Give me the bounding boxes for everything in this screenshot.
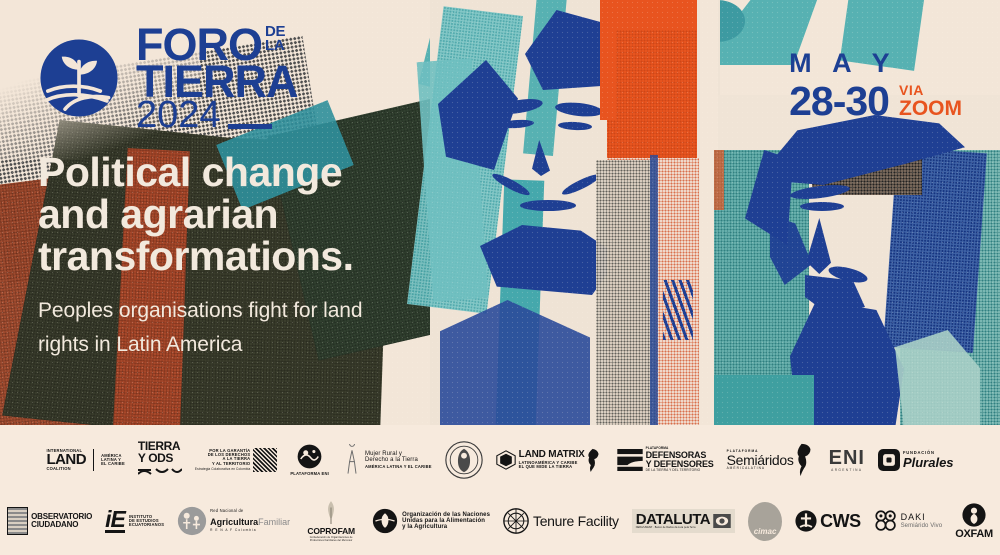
cws-cross-circle-icon [795,510,817,532]
art-right-eye [800,202,844,211]
event-platform-name: ZOOM [899,98,962,119]
foro-de-la-tierra-logo[interactable]: FORO DE LA TIERRA 2024 [38,22,298,134]
logo-dela-text: DE LA [265,25,285,54]
logo-fundacion-plurales[interactable]: FUNDACIÓN Plurales [878,449,954,471]
subtitle-line-2: rights in Latin America [38,328,468,362]
plat-col-hatch-icon [253,448,277,472]
art-right-teal-foot [714,375,814,425]
iee-line-3: ECUATORIANOS [129,523,164,527]
headline-line-1: Political change [38,152,468,194]
mujer-rural-figure-icon [342,444,362,476]
logo-la-text: LA [265,37,284,54]
art-blue-mouth [520,200,576,211]
art-orange-vertical-strip [600,0,616,120]
logo-seal-emblem[interactable] [445,441,483,479]
fao-emblem-icon [372,508,398,534]
event-days: 28-30 [789,81,889,122]
logo-instituto-estudios-ecuatorianos[interactable]: iE INSTITUTO DE ESTUDIOS ECUATORIANOS [105,509,164,534]
ilc-divider [93,449,94,472]
partner-logo-row-1: INTERNATIONAL LAND COALITION AMÉRICA LAT… [0,425,1000,491]
event-date-block: M A Y 28-30 VIA ZOOM [789,48,962,122]
logo-wordmark: FORO DE LA TIERRA 2024 [136,22,298,134]
eni-sub: ARGENTINA [831,468,862,472]
land-matrix-latam-shape-icon [588,448,604,472]
cimac-circle-icon: cimac [748,502,782,541]
event-via-label: VIA [899,83,962,97]
logo-semiaridos[interactable]: PLATAFORMA Semiáridos A M É R I C A L A … [727,443,816,477]
subtitle-line-1: Peoples organisations fight for land [38,294,468,328]
logo-eni-argentina[interactable]: ENI ARGENTINA [829,448,865,472]
ilc-main-text: LAND [46,453,86,467]
ilc-side-3: EL CARIBE [101,462,125,466]
renaf-foot: R E N A F Colombia [210,529,290,532]
renaf-family-circle-icon [177,506,207,536]
logo-tierra-y-ods[interactable]: TIERRA Y ODS [138,440,182,481]
coprofam-main: COPROFAM [307,527,355,536]
tierraods-line-1: TIERRA [138,440,182,452]
renaf-main-2: Familiar [258,517,290,527]
logo-cimac[interactable]: cimac [748,502,782,541]
plurales-main: Plurales [903,456,954,469]
tenure-facility-globe-icon [503,508,529,534]
art-orange-block-texture [607,30,697,165]
logo-coprofam[interactable]: COPROFAM Confederación de Organizaciones… [303,500,359,542]
logo-plataforma-colombia[interactable]: POR LA GARANTÍA DE LOS DERECHOS A LA TIE… [195,448,277,472]
eni-main: ENI [829,448,865,468]
daki-main: DAKI [901,513,943,523]
mujer-rural-line-2: Derecho a la Tierra [365,457,432,463]
plurales-square-icon [878,449,900,471]
headline-line-3: transformations. [38,236,468,278]
cimac-main: cimac [754,527,777,536]
fao-line-3: y la Agricultura [402,524,490,530]
plataforma-eni-emblem-icon [297,444,322,469]
observatorio-mark-icon [7,507,28,535]
semiaridos-main: Semiáridos [727,453,794,467]
renaf-main-1: Agricultura [210,517,258,527]
semiaridos-latam-icon [796,443,816,477]
headline-line-2: and agrarian [38,194,468,236]
art-right-orange-hint [714,150,724,210]
logo-year-text: 2024 [136,96,221,134]
tierraods-waves-icon [138,467,182,476]
event-platform-block: VIA ZOOM [899,83,962,122]
partner-logo-bar: INTERNATIONAL LAND COALITION AMÉRICA LAT… [0,425,1000,555]
fao-line-1: Organización de las Naciones [402,512,490,518]
logo-fao[interactable]: Organización de las Naciones Unidas para… [372,508,490,534]
oxfam-main: OXFAM [955,528,993,540]
logo-plataforma-eni[interactable]: PLATAFORMA ENI [290,444,329,476]
logo-tenure-facility[interactable]: Tenure Facility [503,508,619,534]
tierraods-line-2: Y ODS [138,452,182,464]
logo-red-nacional-agricultura-familiar[interactable]: Red Nacional de AgriculturaFamiliar R E … [177,506,290,536]
land-matrix-cube-icon [496,450,516,470]
logo-underline-rule [228,124,272,129]
plat-col-line-4: Y AL TERRITORIO [195,462,250,466]
land-matrix-sub-2: EL QUE MIDE LA TIERRA [519,465,585,469]
logo-defensoras-y-defensores[interactable]: PLATAFORMA DEFENSORAS Y DEFENSORES DE LA… [617,447,714,473]
plataforma-eni-caption: PLATAFORMA ENI [290,471,329,476]
logo-mujer-rural-derecho-tierra[interactable]: Mujer Rural y Derecho a la Tierra AMÉRIC… [342,444,432,476]
logo-international-land-coalition[interactable]: INTERNATIONAL LAND COALITION AMÉRICA LAT… [46,449,124,472]
plant-field-emblem-icon [38,37,120,119]
plat-col-foot: Estrategia Colaborativa en Colombia [195,468,250,471]
iee-mark-text: iE [105,509,125,534]
defensoras-mark-icon [617,449,643,471]
logo-cws[interactable]: CWS [795,510,861,532]
logo-observatorio-ciudadano[interactable]: OBSERVATORIO CIUDADANO [7,507,92,535]
event-month: M A Y [789,48,962,79]
dataluta-main: DATALUTA [636,512,710,527]
oxfam-person-icon [962,503,986,527]
art-blue-hatch-detail [663,280,693,340]
subtitle-block: Peoples organisations fight for land rig… [38,294,468,362]
logo-oxfam[interactable]: OXFAM [955,503,993,540]
headline-block: Political change and agrarian transforma… [38,152,468,362]
mujer-rural-foot: AMÉRICA LATINA Y EL CARIBE [365,465,432,469]
cws-main: CWS [820,511,861,532]
partner-logo-row-2: OBSERVATORIO CIUDADANO iE INSTITUTO DE E… [0,491,1000,551]
coprofam-foot: Confederación de Organizaciones de Produ… [303,536,359,542]
event-poster: FORO DE LA TIERRA 2024 M A Y 28-30 VIA Z… [0,0,1000,555]
defensoras-foot: DE LA TIERRA Y DEL TERRITORIO [646,469,714,472]
logo-land-matrix[interactable]: LAND MATRIX LATINOAMÉRICA Y CARIBE EL QU… [496,448,604,472]
art-grey-column [596,160,656,425]
daki-spiral-faces-icon [874,510,898,532]
daki-sub: Semiárido Vivo [901,523,943,529]
tenure-facility-main: Tenure Facility [533,513,619,529]
observatorio-line-2: CIUDADANO [31,521,92,529]
logo-daki-semiarido-vivo[interactable]: DAKI Semiárido Vivo [874,510,943,532]
art-blue-thin-stripe [650,155,658,425]
coprofam-wheat-icon [320,500,342,526]
seal-emblem-icon [445,441,483,479]
logo-dataluta[interactable]: DATALUTA NERA/UNESP · Banco de Dados da … [632,509,735,533]
dataluta-brazil-flag-icon [713,514,731,528]
